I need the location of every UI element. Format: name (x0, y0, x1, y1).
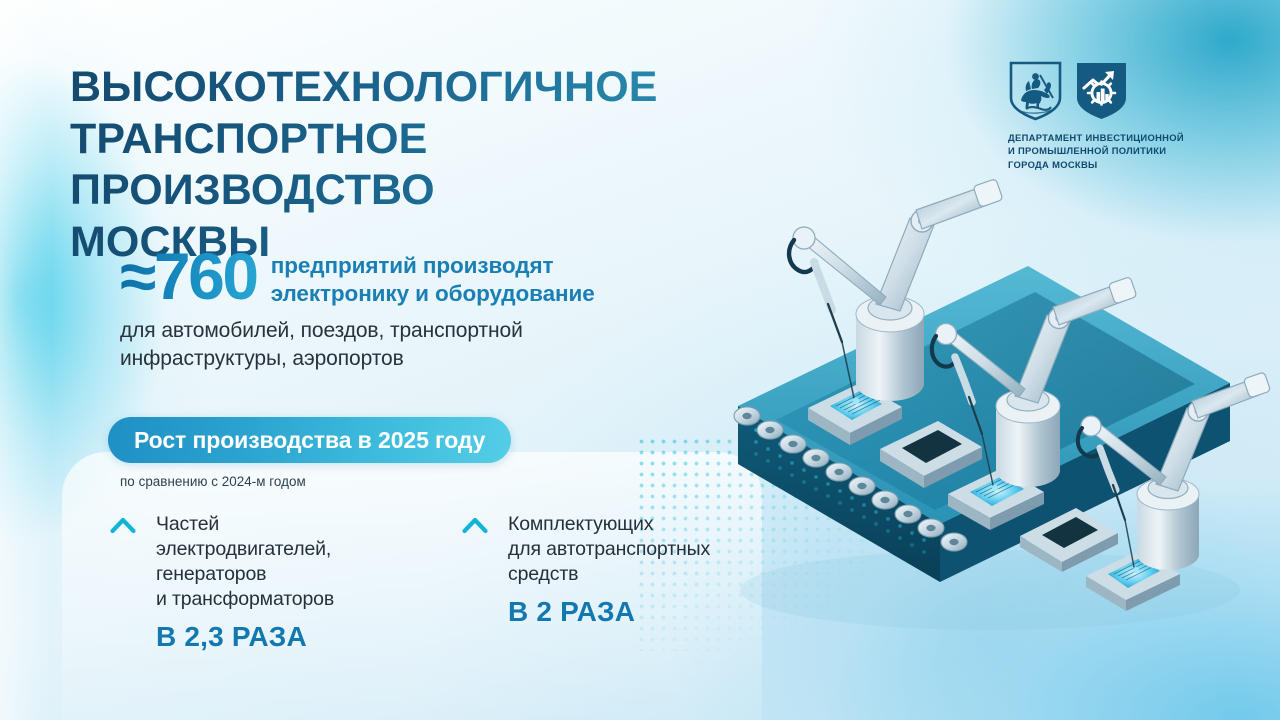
page-title-line-1: ВЫСОКОТЕХНОЛОГИЧНОЕ (70, 62, 770, 114)
growth-item-2-factor: В 2 РАЗА (508, 596, 780, 628)
enterprises-stat-lead-line-1: предприятий производят (271, 252, 595, 280)
growth-item-2-text: Комплектующих для автотранспортных средс… (508, 512, 780, 628)
enterprises-stat-lead: предприятий производят электронику и обо… (271, 246, 595, 308)
growth-item-1-desc-line-1: Частей (156, 512, 428, 537)
chip-station-1 (808, 383, 902, 445)
department-name-line-2: И ПРОМЫШЛЕННОЙ ПОЛИТИКИ (1008, 144, 1226, 157)
growth-item-2-description: Комплектующих для автотранспортных средс… (508, 512, 780, 587)
chip-station-5 (1086, 550, 1180, 611)
enterprises-stat-block: ≈760 предприятий производят электронику … (120, 246, 740, 373)
department-name-line-1: ДЕПАРТАМЕНТ ИНВЕСТИЦИОННОЙ (1008, 131, 1226, 144)
robot-arm-1 (789, 179, 1003, 405)
logo-shields (1008, 60, 1226, 122)
enterprises-stat-lead-line-2: электронику и оборудование (271, 280, 595, 308)
left-glow-band (0, 0, 52, 720)
arrow-up-glyph (460, 516, 490, 594)
robot-arm-3 (1078, 372, 1271, 573)
growth-item-2-desc-line-1: Комплектующих (508, 512, 780, 537)
chip-station-2 (880, 421, 982, 488)
moscow-coat-of-arms-saint-george-icon (1008, 60, 1063, 122)
conveyor-belt (734, 266, 1230, 582)
growth-item-1-desc-line-4: и трансформаторов (156, 587, 428, 612)
robot-arm-2 (932, 277, 1137, 492)
arrow-up-icon (108, 512, 142, 653)
growth-item-1-desc-line-3: генераторов (156, 562, 428, 587)
arrow-up-icon (460, 512, 494, 628)
department-name-line-3: ГОРОДА МОСКВЫ (1008, 158, 1226, 171)
growth-item-1-factor: В 2,3 РАЗА (156, 621, 428, 653)
enterprises-count-value: ≈760 (120, 246, 257, 307)
growth-item-1-description: Частей электродвигателей, генераторов и … (156, 512, 428, 612)
growth-banner-pill: Рост производства в 2025 году (108, 417, 511, 463)
enterprises-stat-subtext: для автомобилей, поездов, транспортной и… (120, 317, 740, 373)
infographic-canvas: ВЫСОКОТЕХНОЛОГИЧНОЕ ТРАНСПОРТНОЕ ПРОИЗВО… (0, 0, 1280, 720)
department-logo: ДЕПАРТАМЕНТ ИНВЕСТИЦИОННОЙ И ПРОМЫШЛЕННО… (1008, 60, 1226, 171)
page-title-line-2: ТРАНСПОРТНОЕ ПРОИЗВОДСТВО (70, 114, 770, 217)
growth-item-2-desc-line-2: для автотранспортных (508, 537, 780, 562)
growth-item-vehicle-components: Комплектующих для автотранспортных средс… (460, 512, 780, 628)
growth-banner-label: Рост производства в 2025 году (134, 427, 485, 454)
chip-station-3 (948, 468, 1044, 530)
growth-item-1-text: Частей электродвигателей, генераторов и … (156, 512, 428, 653)
growth-comparison-note: по сравнению с 2024-м годом (120, 474, 306, 489)
enterprises-stat-sub-line-2: инфраструктуры, аэропортов (120, 345, 740, 373)
industry-growth-chart-gear-icon (1074, 60, 1129, 122)
growth-item-1-desc-line-2: электродвигателей, (156, 537, 428, 562)
growth-item-electric-motor-parts: Частей электродвигателей, генераторов и … (108, 512, 428, 653)
enterprises-stat-sub-line-1: для автомобилей, поездов, транспортной (120, 317, 740, 345)
enterprises-stat-headline: ≈760 предприятий производят электронику … (120, 246, 740, 308)
department-name: ДЕПАРТАМЕНТ ИНВЕСТИЦИОННОЙ И ПРОМЫШЛЕННО… (1008, 131, 1226, 171)
arrow-up-glyph (108, 516, 138, 616)
page-title: ВЫСОКОТЕХНОЛОГИЧНОЕ ТРАНСПОРТНОЕ ПРОИЗВО… (70, 62, 770, 268)
growth-item-2-desc-line-3: средств (508, 562, 780, 587)
chip-station-4 (1020, 508, 1118, 572)
